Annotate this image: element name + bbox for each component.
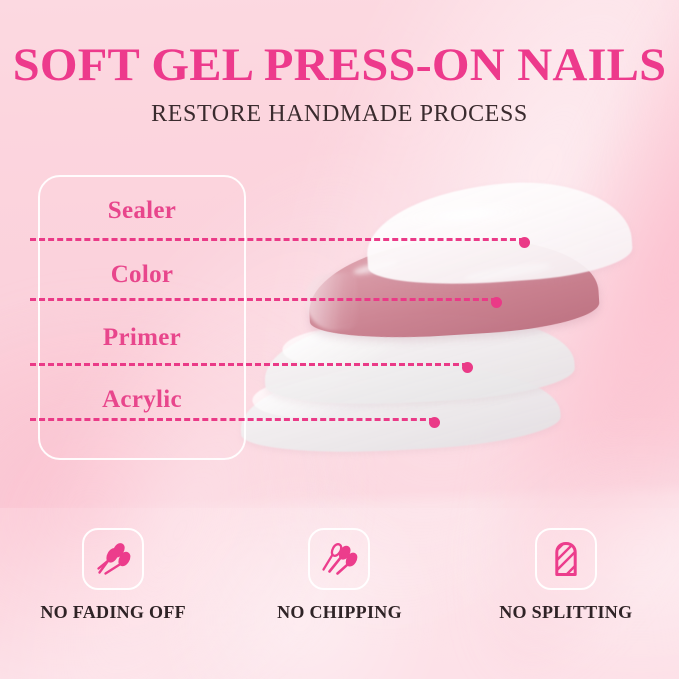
leader-line-acrylic [30,418,435,424]
feature-label-no-chipping: NO CHIPPING [277,602,402,623]
feature-no-chipping: NO CHIPPING [226,528,452,623]
product-infographic-poster: SOFT GEL PRESS-ON NAILS RESTORE HANDMADE… [0,0,679,679]
feature-row: NO FADING OFF NO CHIPPING [0,528,679,623]
leader-dot-acrylic [429,417,440,428]
leader-dot-sealer [519,237,530,248]
feature-label-no-splitting: NO SPLITTING [499,602,632,623]
leader-line-color [30,298,497,304]
leader-line-sealer [30,238,525,244]
page-title: SOFT GEL PRESS-ON NAILS [0,42,679,89]
leader-dot-color [491,297,502,308]
feature-no-splitting: NO SPLITTING [453,528,679,623]
layer-label-acrylic: Acrylic [38,387,246,412]
feature-no-fading-off: NO FADING OFF [0,528,226,623]
leader-line-primer [30,363,468,369]
nail-layer-sealer [363,175,634,291]
leader-dot-primer [462,362,473,373]
feature-label-no-fading-off: NO FADING OFF [40,602,186,623]
nail-strokes-outline-icon [308,528,370,590]
nail-strokes-filled-icon [82,528,144,590]
page-subtitle: RESTORE HANDMADE PROCESS [0,102,679,126]
layer-label-primer: Primer [38,325,246,350]
nail-striped-icon [535,528,597,590]
layer-label-sealer: Sealer [38,198,246,223]
nail-layer-stack-illustration [250,180,679,450]
layer-label-color: Color [38,262,246,287]
